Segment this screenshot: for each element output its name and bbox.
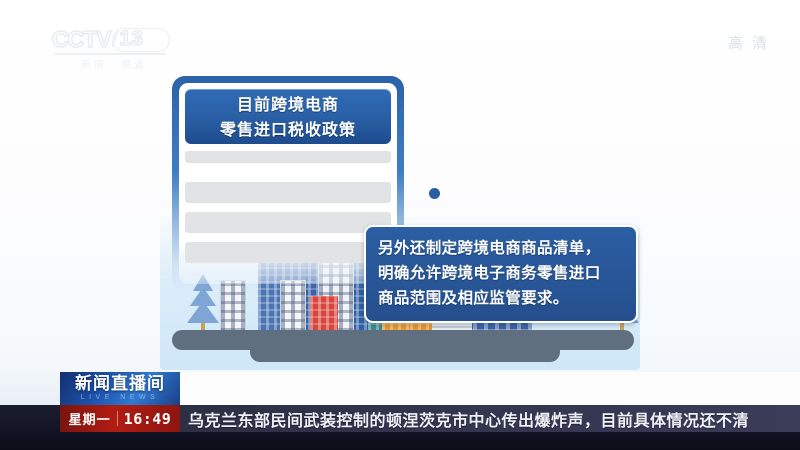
cctv-logo-slash: / [112, 25, 119, 54]
ground-platform-lower [250, 348, 560, 362]
panel-placeholder-line-2 [185, 182, 391, 203]
panel-title-line-2: 零售进口税收政策 [220, 117, 356, 142]
lower-third-bottom-fill [0, 432, 800, 450]
building-red [310, 296, 338, 332]
callout-anchor-dot [429, 188, 440, 199]
program-logo: 新闻直播间 LIVE NEWS [60, 372, 180, 405]
lower-third-white-strip [180, 372, 800, 405]
callout-line-1: 另外还制定跨境电商商品清单， [378, 236, 624, 261]
date-time-badge: 星期一 16:49 [60, 405, 180, 432]
cctv-logo-text: CCTV [52, 26, 111, 53]
program-name: 新闻直播间 [75, 375, 165, 393]
datetime-separator [117, 411, 118, 426]
weekday-label: 星期一 [69, 409, 111, 428]
clock-label: 16:49 [124, 410, 172, 428]
lower-third-bar: 新闻直播间 LIVE NEWS 星期一 16:49 乌克兰东部民间武装控制的顿涅… [0, 372, 800, 450]
cctv-logo-underline [54, 53, 166, 55]
infographic-stage: 目前跨境电商 零售进口税收政策 另外还制定跨境电商商品清单， 明确允许跨境电子商… [0, 62, 800, 372]
program-name-en: LIVE NEWS [81, 393, 160, 403]
panel-placeholder-line-4 [185, 242, 391, 263]
ground-platform [172, 330, 634, 350]
callout-line-3: 商品范围及相应监管要求。 [378, 286, 624, 311]
hd-watermark: 高清 [728, 32, 776, 53]
panel-title-block: 目前跨境电商 零售进口税收政策 [185, 89, 391, 144]
news-ticker: 乌克兰东部民间武装控制的顿涅茨克市中心传出爆炸声，目前具体情况还不清 [180, 405, 800, 432]
callout-bubble: 另外还制定跨境电商商品清单， 明确允许跨境电子商务零售进口 商品范围及相应监管要… [364, 225, 638, 323]
tv-broadcast-frame: CCTV / 13 新闻 频道 高清 [0, 0, 800, 450]
callout-line-2: 明确允许跨境电子商务零售进口 [378, 261, 624, 286]
panel-placeholder-line-3 [185, 212, 391, 233]
lower-third-left-fill [0, 372, 60, 432]
cctv-logo-number: 13 [120, 27, 143, 51]
news-ticker-text: 乌克兰东部民间武装控制的顿涅茨克市中心传出爆炸声，目前具体情况还不清 [180, 407, 749, 431]
panel-title-line-1: 目前跨境电商 [237, 92, 339, 117]
cctv-logo-oval [112, 28, 170, 52]
panel-placeholder-line-1 [185, 151, 391, 163]
